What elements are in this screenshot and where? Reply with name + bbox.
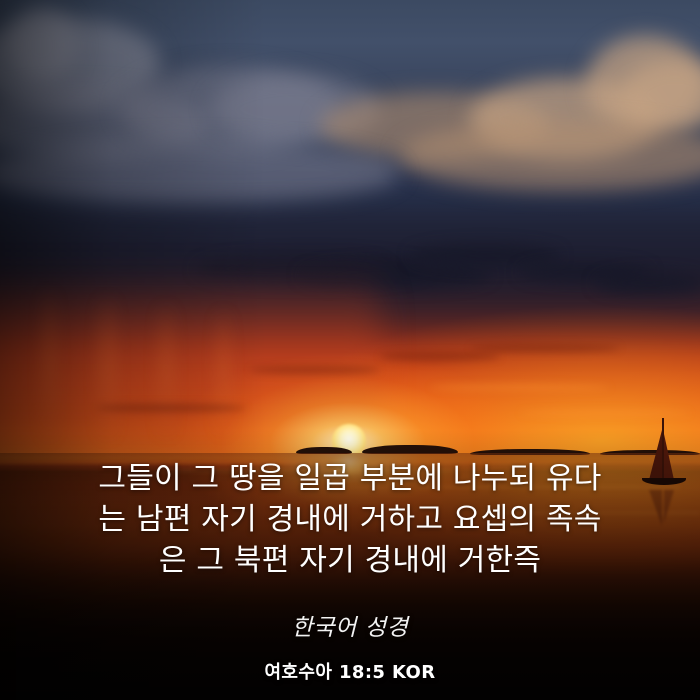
verse-line-1: 그들이 그 땅을 일곱 부분에 나누되 유다 (8, 458, 692, 499)
left-darkening-scrim (0, 0, 700, 700)
translation-label: 한국어 성경 (0, 608, 700, 642)
verse-text: 그들이 그 땅을 일곱 부분에 나누되 유다 는 남편 자기 경내에 거하고 요… (0, 458, 700, 581)
verse-reference: 여호수아 18:5 KOR (0, 658, 700, 684)
verse-line-2: 는 남편 자기 경내에 거하고 요셉의 족속 (8, 499, 692, 540)
verse-image-card: 그들이 그 땅을 일곱 부분에 나누되 유다 는 남편 자기 경내에 거하고 요… (0, 0, 700, 700)
verse-line-3: 은 그 북편 자기 경내에 거한즉 (8, 540, 692, 581)
